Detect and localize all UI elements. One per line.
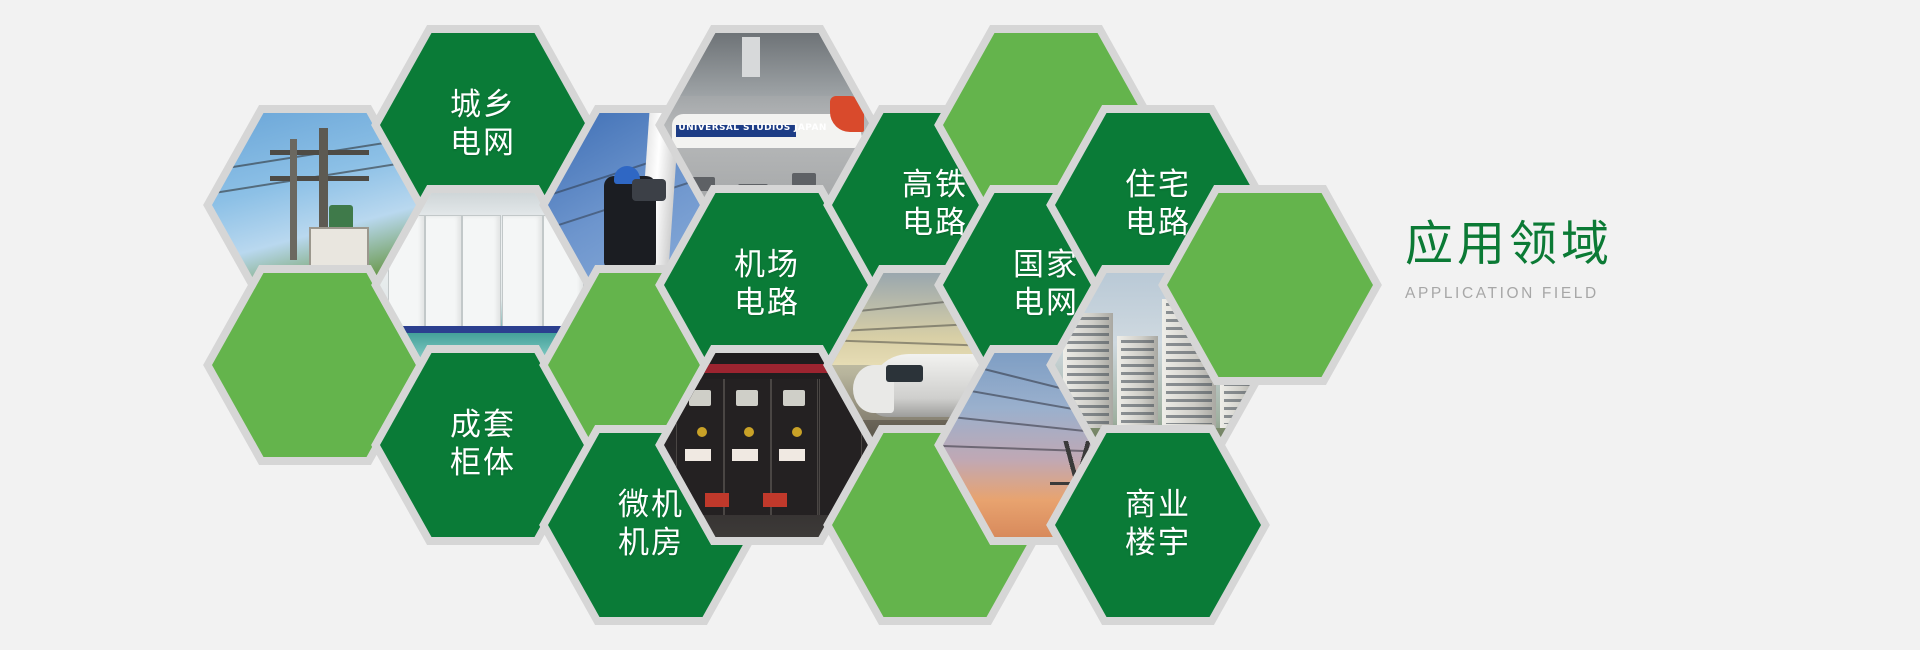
hex-label-text: 城乡 电网 <box>450 87 516 163</box>
hex-label-text: 机场 电路 <box>734 247 800 323</box>
page-title: 应用领域 <box>1405 218 1825 271</box>
hex-label-text: 微机 机房 <box>618 487 684 563</box>
title-block: 应用领域 APPLICATION FIELD <box>1405 218 1825 303</box>
hex-label-text: 住宅 电路 <box>1125 167 1191 243</box>
plane-livery-text: UNIVERSAL STUDIOS JAPAN <box>678 123 826 133</box>
application-field-banner: 城乡 电网 成套 柜体 <box>0 0 1920 650</box>
hex-label-text: 商业 楼宇 <box>1125 487 1191 563</box>
page-subtitle: APPLICATION FIELD <box>1405 285 1825 303</box>
hex-label-text: 高铁 电路 <box>902 167 968 243</box>
hex-label-text: 国家 电网 <box>1013 247 1079 323</box>
hex-label-text: 成套 柜体 <box>450 407 516 483</box>
